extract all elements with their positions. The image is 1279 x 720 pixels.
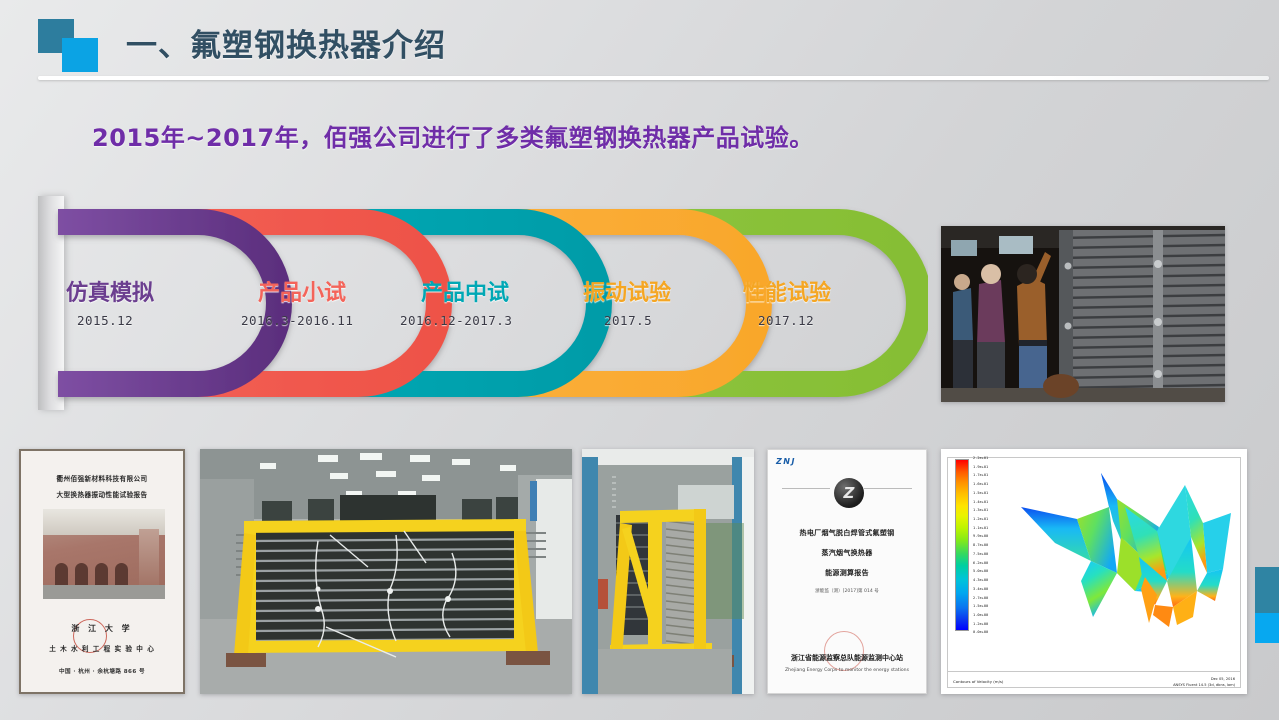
cfd-tick: 0.0e+00 bbox=[973, 631, 1015, 635]
report1-org1: 浙 江 大 学 bbox=[29, 623, 175, 634]
timeline-date-1: 2016.3-2016.11 bbox=[241, 313, 353, 328]
edge-accent-blue bbox=[1255, 613, 1279, 643]
cfd-tick: 2.2e+01 bbox=[973, 457, 1015, 461]
report2-org-cn: 浙江省能源监察总队能源监测中心站 bbox=[772, 653, 922, 663]
timeline-label-1: 产品小试 bbox=[258, 275, 346, 307]
cfd-tick: 1.3e+01 bbox=[973, 509, 1015, 513]
timeline-label-2: 产品中试 bbox=[421, 275, 509, 307]
report2-line2: 蒸汽烟气换热器 bbox=[774, 548, 920, 558]
report2-docno: 浙能监（测）[2017]第 014 号 bbox=[774, 588, 920, 594]
cfd-tick: 1.5e+00 bbox=[973, 605, 1015, 609]
cfd-software: ANSYS Fluent 14.5 (3d, dbns, lam) bbox=[1173, 683, 1235, 688]
cfd-tick: 2.7e+00 bbox=[973, 597, 1015, 601]
report2-org-en: Zhejiang Energy Corps to monitor the ene… bbox=[772, 668, 922, 673]
cfd-tick: 5.0e+00 bbox=[973, 570, 1015, 574]
report1-line1: 衢州佰强新材料科技有限公司 bbox=[29, 473, 175, 483]
header-square-bright-icon bbox=[62, 38, 98, 72]
cfd-tick: 1.2e+01 bbox=[973, 518, 1015, 522]
heat-exchanger-side-photo bbox=[582, 449, 754, 694]
slide-header: 一、氟塑钢换热器介绍 bbox=[0, 0, 1279, 96]
page-title: 一、氟塑钢换热器介绍 bbox=[126, 20, 446, 65]
cfd-tick: 1.0e+00 bbox=[973, 614, 1015, 618]
energy-measurement-report-cover: ZNJ Z 热电厂烟气脱白焊管式氟塑钢 蒸汽烟气换热器 能源测算报告 浙能监（测… bbox=[767, 449, 927, 694]
cfd-colorbar bbox=[955, 459, 969, 631]
timeline-date-0: 2015.12 bbox=[77, 313, 133, 328]
timeline-date-4: 2017.12 bbox=[758, 313, 814, 328]
cfd-surfaces bbox=[1017, 465, 1235, 641]
cfd-caption-title: Contours of Velocity (m/s) bbox=[953, 679, 1003, 684]
cfd-tick: 1.4e+01 bbox=[973, 501, 1015, 505]
cfd-tick: 3.4e+00 bbox=[973, 588, 1015, 592]
cfd-tick: 9.9e+00 bbox=[973, 535, 1015, 539]
cfd-colorbar-ticks: 2.2e+01 1.9e+01 1.7e+01 1.6e+01 1.5e+01 … bbox=[973, 457, 1015, 635]
lab-scene bbox=[200, 449, 572, 694]
cfd-tick: 1.1e+01 bbox=[973, 527, 1015, 531]
report2-seal-icon bbox=[824, 631, 864, 671]
timeline-label-0: 仿真模拟 bbox=[66, 275, 154, 307]
timeline-date-2: 2016.12-2017.3 bbox=[400, 313, 512, 328]
report2-line3: 能源测算报告 bbox=[774, 568, 920, 578]
cfd-velocity-contour-plot: 2.2e+01 1.9e+01 1.7e+01 1.6e+01 1.5e+01 … bbox=[941, 449, 1247, 694]
cfd-tick: 1.6e+01 bbox=[973, 483, 1015, 487]
timeline-label-4: 性能试验 bbox=[743, 275, 831, 307]
vibration-test-report-cover: 衢州佰强新材料科技有限公司 大型换热器振动性能试验报告 浙 江 大 学 土 木 … bbox=[19, 449, 185, 694]
cfd-tick: 1.2e+00 bbox=[973, 623, 1015, 627]
report2-medal-icon: Z bbox=[834, 478, 864, 508]
cfd-tick: 6.2e+00 bbox=[973, 562, 1015, 566]
process-timeline: 仿真模拟 2015.12 产品小试 2016.3-2016.11 产品中试 20… bbox=[38, 196, 928, 410]
cfd-tick: 1.7e+01 bbox=[973, 474, 1015, 478]
edge-accent-teal bbox=[1255, 567, 1279, 613]
report2-line1: 热电厂烟气脱白焊管式氟塑钢 bbox=[774, 528, 920, 538]
cfd-caption-meta: Dec 05, 2016 ANSYS Fluent 14.5 (3d, dbns… bbox=[1173, 677, 1235, 688]
report1-building-photo bbox=[43, 509, 165, 599]
workshop-inspection-photo bbox=[941, 226, 1225, 402]
report1-line2: 大型换热器振动性能试验报告 bbox=[29, 489, 175, 499]
cfd-tick: 4.3e+00 bbox=[973, 579, 1015, 583]
side-view-scene bbox=[582, 449, 754, 694]
cfd-tick: 1.5e+01 bbox=[973, 492, 1015, 496]
timeline-label-3: 振动试验 bbox=[583, 275, 671, 307]
workshop-inspection-scene bbox=[941, 226, 1225, 402]
header-divider bbox=[38, 76, 1269, 80]
cfd-tick: 7.5e+00 bbox=[973, 553, 1015, 557]
timeline-date-3: 2017.5 bbox=[604, 313, 652, 328]
cfd-caption-divider bbox=[948, 671, 1240, 672]
report1-address: 中国 · 杭州 · 余杭塘路 866 号 bbox=[29, 667, 175, 675]
heat-exchanger-lab-photo bbox=[200, 449, 572, 694]
report2-logo: ZNJ bbox=[776, 457, 796, 466]
report1-org2: 土 木 水 利 工 程 实 验 中 心 bbox=[29, 643, 175, 653]
cfd-tick: 8.7e+00 bbox=[973, 544, 1015, 548]
slide-subtitle: 2015年~2017年，佰强公司进行了多类氟塑钢换热器产品试验。 bbox=[92, 118, 814, 153]
cfd-tick: 1.9e+01 bbox=[973, 466, 1015, 470]
